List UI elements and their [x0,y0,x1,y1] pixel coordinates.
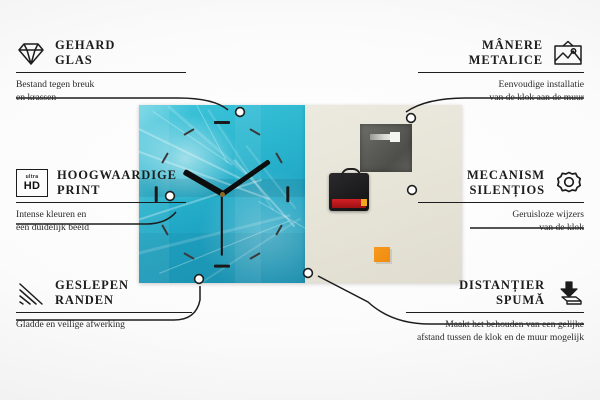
feature-desc-line1: Maakt het behouden van een gelijke [445,319,584,330]
hour-tick [275,152,283,163]
divider [406,312,584,314]
feature-desc-line1: Gladde en veilige afwerking [16,319,125,330]
hour-tick [183,252,194,260]
feature-title-line1: HOOGWAARDIGE [57,168,177,182]
feature-title-line2: METALICE [469,53,543,67]
feature-title-line2: SILENȚIOS [470,183,546,197]
feature-desc-line1: Intense kleuren en [16,209,86,220]
gear-icon [554,169,584,197]
feature-title-line1: MÂNERE [482,38,543,52]
second-hand [221,194,223,256]
hour-tick [183,128,194,136]
divider [16,312,192,314]
feature-title-line2: SPUMĂ [496,293,545,307]
feature-manere-metalice: MÂNERE METALICE Eenvoudige installatie v… [418,38,584,105]
feature-mecanism-silentios: MECANISM SILENȚIOS Geruisloze wijzers va… [418,168,584,235]
hour-tick [275,224,283,235]
feature-desc-line2: van de klok [539,222,584,233]
clock-pivot [220,192,225,197]
feature-hoogwaardige-print: ultra HD HOOGWAARDIGE PRINT Intense kleu… [16,168,186,235]
feature-geslepen-randen: GESLEPEN RANDEN Gladde en veilige afwerk… [16,278,192,331]
feature-gehard-glas: GEHARD GLAS Bestand tegen breuk en krass… [16,38,186,105]
metal-hanger-plate [360,124,412,172]
feature-desc-line2: en krassen [16,92,56,103]
beveled-edge-icon [16,281,46,306]
feature-desc-line1: Bestand tegen breuk [16,79,94,90]
feature-title-line1: GEHARD [55,38,115,52]
feature-desc-line1: Eenvoudige installatie [498,79,584,90]
feature-title-line1: GESLEPEN [55,278,129,292]
feature-desc-line2: van de klok aan de muur [489,92,584,103]
divider [418,202,584,204]
feature-title-line1: MECANISM [467,168,545,182]
divider [16,72,186,74]
feature-title-line2: RANDEN [55,293,114,307]
feature-desc-line2: een duidelijk beeld [16,222,89,233]
hour-tick [249,128,260,136]
feature-title-line1: DISTANȚIER [459,278,545,292]
minute-hand [221,159,271,196]
hour-hand [183,170,224,197]
diamond-icon [16,41,46,66]
feature-desc-line2: afstand tussen de klok en de muur mogeli… [417,332,584,343]
feature-desc-line1: Geruisloze wijzers [512,209,584,220]
product-image [139,105,462,283]
hour-tick [161,152,169,163]
hour-tick [287,186,290,202]
hour-tick [214,121,230,124]
ultra-hd-icon: ultra HD [16,169,48,197]
feature-title-line2: GLAS [55,53,93,67]
hour-tick [214,265,230,268]
feature-title-line2: PRINT [57,183,100,197]
infographic-canvas: GEHARD GLAS Bestand tegen breuk en krass… [0,0,600,400]
battery [332,199,366,208]
divider [16,202,186,204]
feature-distantier-spuma: DISTANȚIER SPUMĂ Maakt het behouden van … [406,278,584,345]
foam-spacer [374,247,390,262]
hour-tick [249,252,260,260]
clock-movement [329,173,369,211]
spacer-drop-icon [554,280,584,306]
picture-frame-icon [552,40,584,66]
divider [418,72,584,74]
